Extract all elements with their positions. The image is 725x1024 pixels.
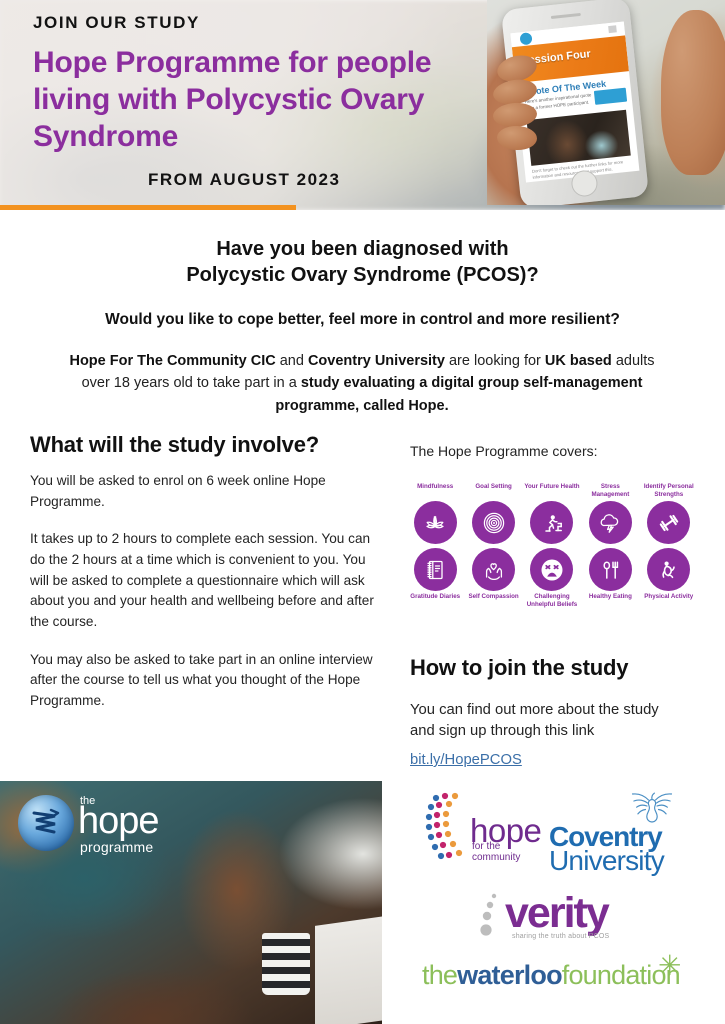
how-to-join-heading: How to join the study: [410, 655, 628, 681]
hope-programme-logo: the hope programme: [18, 791, 208, 861]
join-our-study-kicker: JOIN OUR STUDY: [33, 13, 200, 33]
topic-label: Healthy Eating: [589, 593, 632, 609]
waterloo-wordmark: thewaterloofoundation: [422, 962, 680, 989]
cutlery-icon: [589, 548, 632, 591]
topic-label: Physical Activity: [644, 593, 693, 609]
participant-photo: the hope programme: [0, 781, 382, 1024]
app-logo-icon: [519, 32, 532, 45]
topic-healthy-eating: Healthy Eating: [581, 546, 639, 609]
intro-text: and: [276, 353, 308, 369]
start-date-label: FROM AUGUST 2023: [148, 170, 340, 190]
programme-covers-label: The Hope Programme covers:: [410, 443, 598, 459]
thumb-shape: [661, 10, 725, 175]
stairs-climber-icon: [530, 501, 573, 544]
hope-badge-icon: [594, 88, 627, 105]
verity-wordmark: verity: [505, 892, 608, 935]
topic-self-compassion: Self Compassion: [464, 546, 522, 609]
intro-emphasis: study evaluating a digital group self-ma…: [275, 375, 642, 413]
topic-label: Goal Setting: [475, 483, 511, 499]
topic-physical-activity: Physical Activity: [640, 546, 698, 609]
topic-personal-strengths: Identify Personal Strengths: [640, 483, 698, 546]
h4c-tagline-line2: community: [472, 852, 520, 863]
phone-screen: Session Four Quote Of The Week Here's an…: [510, 21, 639, 182]
headline-question: Have you been diagnosed with Polycystic …: [0, 236, 725, 289]
verity-tagline: sharing the truth about PCOS: [512, 933, 609, 940]
hamburger-menu-icon: [608, 25, 617, 33]
intro-emphasis: Coventry University: [308, 353, 445, 369]
phone-speaker: [551, 13, 581, 19]
study-involve-paragraph: It takes up to 2 hours to complete each …: [30, 529, 380, 632]
topic-label: Challenging Unhelpful Beliefs: [523, 593, 581, 609]
orange-accent-bar: [0, 205, 296, 210]
verity-logo: verity sharing the truth about PCOS: [400, 886, 725, 948]
topic-goal-setting: Goal Setting: [464, 483, 522, 546]
study-involve-body: You will be asked to enrol on 6 week onl…: [30, 471, 380, 729]
verity-dots-icon: [478, 892, 506, 944]
notebook-icon: [414, 548, 457, 591]
intro-emphasis: UK based: [545, 353, 612, 369]
topic-label: Gratitude Diaries: [410, 593, 460, 609]
h4c-dots-icon: [422, 790, 474, 878]
topic-gratitude-diaries: Gratitude Diaries: [406, 546, 464, 609]
coventry-university-logo: Coventry University: [545, 786, 715, 882]
h4c-tagline-line1: for the: [472, 841, 520, 852]
page-title: Hope Programme for people living with Po…: [33, 44, 513, 156]
waterloo-the: the: [422, 960, 457, 990]
how-to-join-body: You can find out more about the study an…: [410, 700, 685, 743]
topic-label: Mindfulness: [417, 483, 453, 499]
topic-label: Self Compassion: [468, 593, 518, 609]
study-involve-paragraph: You will be asked to enrol on 6 week onl…: [30, 471, 380, 512]
storm-cloud-icon: [589, 501, 632, 544]
topic-mindfulness: Mindfulness: [406, 483, 464, 546]
hope-logo-programme: programme: [80, 839, 153, 855]
topic-label: Your Future Health: [524, 483, 579, 499]
poster-header: JOIN OUR STUDY Hope Programme for people…: [0, 0, 725, 210]
study-involve-paragraph: You may also be asked to take part in an…: [30, 650, 380, 712]
topic-label: Stress Management: [581, 483, 639, 499]
quote-photo: [527, 110, 631, 166]
dumbbell-icon: [647, 501, 690, 544]
photo-mug: [262, 933, 310, 995]
target-icon: [472, 501, 515, 544]
partner-logos: hope for the community Coventry Universi…: [400, 786, 725, 1006]
frowning-face-icon: [530, 548, 573, 591]
topics-row-2: Gratitude Diaries Self Compassion: [406, 546, 698, 609]
intro-text: are looking for: [445, 353, 545, 369]
programme-topics-grid: Mindfulness Goal Setting: [406, 483, 698, 609]
yoga-person-icon: [647, 548, 690, 591]
headline-question-line1: Have you been diagnosed with: [0, 236, 725, 262]
hands-heart-icon: [472, 548, 515, 591]
topic-stress-management: Stress Management: [581, 483, 639, 546]
intro-emphasis: Hope For The Community CIC: [69, 353, 275, 369]
waterloo-foundation-logo: thewaterloofoundation ✳: [400, 954, 725, 1006]
subheadline-question: Would you like to cope better, feel more…: [0, 311, 725, 329]
signup-link[interactable]: bit.ly/HopePCOS: [410, 752, 522, 768]
coventry-wordmark-line2: University: [549, 848, 664, 875]
hope-globe-icon: [18, 795, 74, 851]
photo-laptop: [315, 916, 382, 1024]
topic-challenging-beliefs: Challenging Unhelpful Beliefs: [523, 546, 581, 609]
topics-row-1: Mindfulness Goal Setting: [406, 483, 698, 546]
study-involve-heading: What will the study involve?: [30, 432, 319, 458]
hope-logo-hope: hope: [78, 802, 159, 840]
intro-paragraph: Hope For The Community CIC and Coventry …: [62, 350, 662, 417]
waterloo-waterloo: waterloo: [457, 960, 562, 990]
topic-label: Identify Personal Strengths: [640, 483, 698, 499]
h4c-tagline: for the community: [472, 841, 520, 863]
headline-question-line2: Polycystic Ovary Syndrome (PCOS)?: [0, 262, 725, 288]
waterloo-star-icon: ✳: [658, 952, 681, 980]
hope-for-the-community-logo: hope for the community: [422, 790, 562, 878]
logo-row-primary: hope for the community Coventry Universi…: [400, 786, 725, 882]
topic-future-health: Your Future Health: [523, 483, 581, 546]
hope-swirl-icon: [27, 805, 65, 843]
lotus-icon: [414, 501, 457, 544]
phone-in-hand-image: Session Four Quote Of The Week Here's an…: [487, 0, 725, 205]
